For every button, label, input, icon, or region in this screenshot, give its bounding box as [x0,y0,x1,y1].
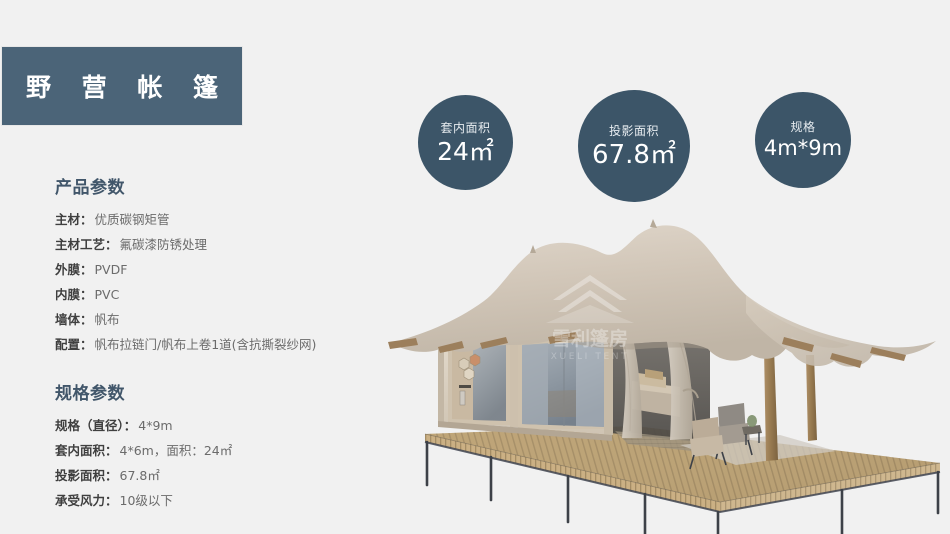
canopy-peak-right [650,219,657,228]
spec-label: 配置： [55,337,93,352]
spec-value: 4*6m，面积：24㎡ [120,443,233,458]
spec-row: 主材工艺：氟碳漆防锈处理 [55,232,385,257]
spec-label: 主材： [55,212,93,227]
spec-value: 帆布 [95,312,120,327]
spec-row: 内膜：PVC [55,282,385,307]
spec-value: 优质碳钢矩管 [95,212,170,227]
spec-label: 墙体： [55,312,93,327]
spec-row: 承受风力：10级以下 [55,488,385,513]
support-post-1 [764,348,778,461]
stat-label: 规格 [790,121,815,133]
stat-label: 套内面积 [440,122,490,134]
spec-row: 主材：优质碳钢矩管 [55,207,385,232]
stat-label: 投影面积 [609,125,659,137]
spec-label: 承受风力： [55,493,118,508]
spec-row: 墙体：帆布 [55,307,385,332]
watermark-text-cn: 雪利篷房 [552,327,628,350]
spec-value: 帆布拉链门/帆布上卷1道(含抗撕裂纱网) [95,337,317,352]
spec-row: 套内面积：4*6m，面积：24㎡ [55,438,385,463]
spec-value: 10级以下 [120,493,173,508]
stat-badge-interior-area: 套内面积 24㎡ [418,95,513,190]
product-parameters-section: 产品参数 主材：优质碳钢矩管 主材工艺：氟碳漆防锈处理 外膜：PVDF 内膜：P… [55,173,385,357]
tent-canopy [388,219,936,368]
spec-label: 外膜： [55,262,93,277]
potted-plant [747,415,757,427]
tent-product-illustration: 雪利篷房 XUELI TENT [380,195,950,534]
wall-post-mid [510,341,518,427]
spec-row: 配置：帆布拉链门/帆布上卷1道(含抗撕裂纱网) [55,332,385,357]
spec-label: 投影面积： [55,468,118,483]
spec-row: 外膜：PVDF [55,257,385,282]
spec-label: 套内面积： [55,443,118,458]
spec-value: 67.8㎡ [120,468,160,483]
spec-row: 投影面积：67.8㎡ [55,463,385,488]
section-heading-dimensions: 规格参数 [55,379,385,404]
page-root: 野 营 帐 篷 套内面积 24㎡ 投影面积 67.8㎡ 规格 4m*9m 产品参… [0,0,950,534]
page-title: 野 营 帐 篷 [15,68,229,104]
support-post-2 [806,355,817,441]
page-title-banner: 野 营 帐 篷 [2,47,242,125]
spec-value: 4*9m [138,418,172,433]
stat-badge-size: 规格 4m*9m [755,92,851,188]
stat-value: 24㎡ [437,139,494,164]
stat-value: 67.8㎡ [592,142,676,168]
spec-value: 氟碳漆防锈处理 [120,237,208,252]
watermark-text-en: XUELI TENT [551,352,629,362]
dimension-parameters-section: 规格参数 规格（直径）：4*9m 套内面积：4*6m，面积：24㎡ 投影面积：6… [55,379,385,513]
spec-label: 内膜： [55,287,93,302]
spec-label: 规格（直径）： [55,418,136,433]
canopy-peak-left [530,245,536,253]
stat-badge-projected-area: 投影面积 67.8㎡ [578,90,690,202]
spec-row: 规格（直径）：4*9m [55,413,385,438]
stat-value: 4m*9m [764,138,842,159]
spec-value: PVC [95,287,120,302]
spec-value: PVDF [95,262,128,277]
spec-label: 主材工艺： [55,237,118,252]
specifications-panel: 产品参数 主材：优质碳钢矩管 主材工艺：氟碳漆防锈处理 外膜：PVDF 内膜：P… [55,173,385,527]
section-heading-product: 产品参数 [55,173,385,198]
